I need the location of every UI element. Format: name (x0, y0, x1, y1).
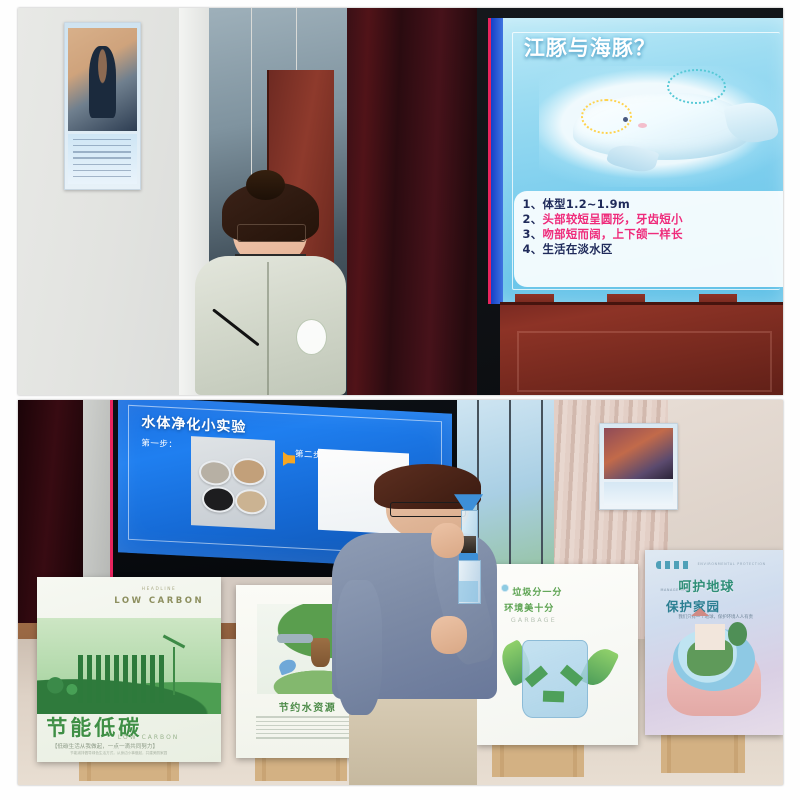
poster1-wind-turbine-icon (173, 647, 175, 695)
wall-poster-caption (68, 134, 137, 184)
filtered-water (459, 581, 479, 602)
poster1-english: LOW CARBON (114, 596, 204, 606)
right-arrow-icon (283, 452, 294, 467)
poster1-subtitle: 【低碳生活从我做起，一点一滴共同努力】 (52, 742, 158, 750)
poster4-header: ENVIRONMENTAL PROTECTION (698, 562, 766, 566)
poster-energy-saving: HEADLINE LOW CARBON 节能低碳 LOW CARBON 【低碳生… (37, 577, 221, 762)
slide-bullet-1: 1、体型1.2~1.9m (523, 197, 783, 212)
poster1-family-silhouettes (44, 673, 88, 714)
photo-collage: 江豚与海豚？ 1、体型1.2~1.9m 2、头部较短呈圆形，牙齿短小 3、吻部 (0, 0, 800, 800)
slide-step1-label: 第一步： (141, 437, 177, 451)
poster4-house-icon (695, 624, 725, 650)
poster4-dot-decor (656, 561, 692, 568)
slide-title-top: 江豚与海豚？ (524, 32, 656, 62)
wall-poster-framed (64, 22, 141, 190)
poster3-recycle-icon (525, 665, 586, 705)
photo-bottom-demo: 水体净化小实验 第一步： 第二步： (18, 400, 783, 785)
poster1-header: HEADLINE (142, 587, 177, 592)
poster4-title-line1: 呵护地球 (678, 576, 734, 595)
male-presenter (324, 465, 531, 785)
filter-funnel (454, 494, 483, 511)
female-presenter (190, 194, 351, 395)
male-presenter-lower-hand (431, 616, 466, 654)
jacket-zipper (267, 262, 269, 395)
presenter-glasses (237, 224, 306, 242)
slide-step1-image (191, 436, 274, 529)
wall-poster-image (68, 28, 137, 131)
screen-edge-band (491, 18, 503, 304)
photo-top-lecture: 江豚与海豚？ 1、体型1.2~1.9m 2、头部较短呈圆形，牙齿短小 3、吻部 (18, 8, 783, 395)
male-presenter-upper-hand (431, 523, 464, 558)
slide-bullet-3: 3、吻部短而阔，上下颌一样长 (523, 227, 783, 242)
dorsal-highlight-circle-icon (667, 69, 725, 104)
slide-bullet-panel: 1、体型1.2~1.9m 2、头部较短呈圆形，牙齿短小 3、吻部短而阔，上下颌一… (514, 191, 783, 287)
wall-poster-right (599, 423, 678, 510)
porpoise-illustration (539, 66, 783, 186)
wall-poster-right-image (604, 428, 673, 479)
slide-bullet-4: 4、生活在淡水区 (523, 242, 783, 257)
slide-bullet-2: 2、头部较短呈圆形，牙齿短小 (523, 212, 783, 227)
poster1-english-sub: LOW CARBON (118, 734, 179, 741)
head-highlight-circle-icon (581, 99, 632, 134)
poster2-faucet-icon (277, 634, 314, 642)
wooden-cabinet (500, 302, 783, 395)
jacket-logo-patch (296, 319, 327, 355)
poster1-fine-print: 节能减排倡导绿色生活方式，从身边小事做起，共建美丽家园 (70, 751, 167, 756)
male-presenter-lower-arm (336, 580, 381, 714)
water-filtration-apparatus (452, 494, 485, 635)
poster-protect-earth: ENVIRONMENTAL PROTECTION MANAGEMENT 呵护地球… (645, 550, 783, 735)
porpoise-blush (638, 123, 647, 128)
poster4-subtitle: 我们只有一个地球，保护环境人人有责 (678, 614, 753, 620)
presenter-hair-bun (246, 170, 285, 200)
wall-poster-right-caption (604, 482, 673, 505)
poster1-city-artwork (78, 655, 166, 703)
poster2-water-drop-icon (278, 657, 298, 675)
projection-screen-top: 江豚与海豚？ 1、体型1.2~1.9m 2、头部较短呈圆形，牙齿短小 3、吻部 (488, 18, 783, 304)
